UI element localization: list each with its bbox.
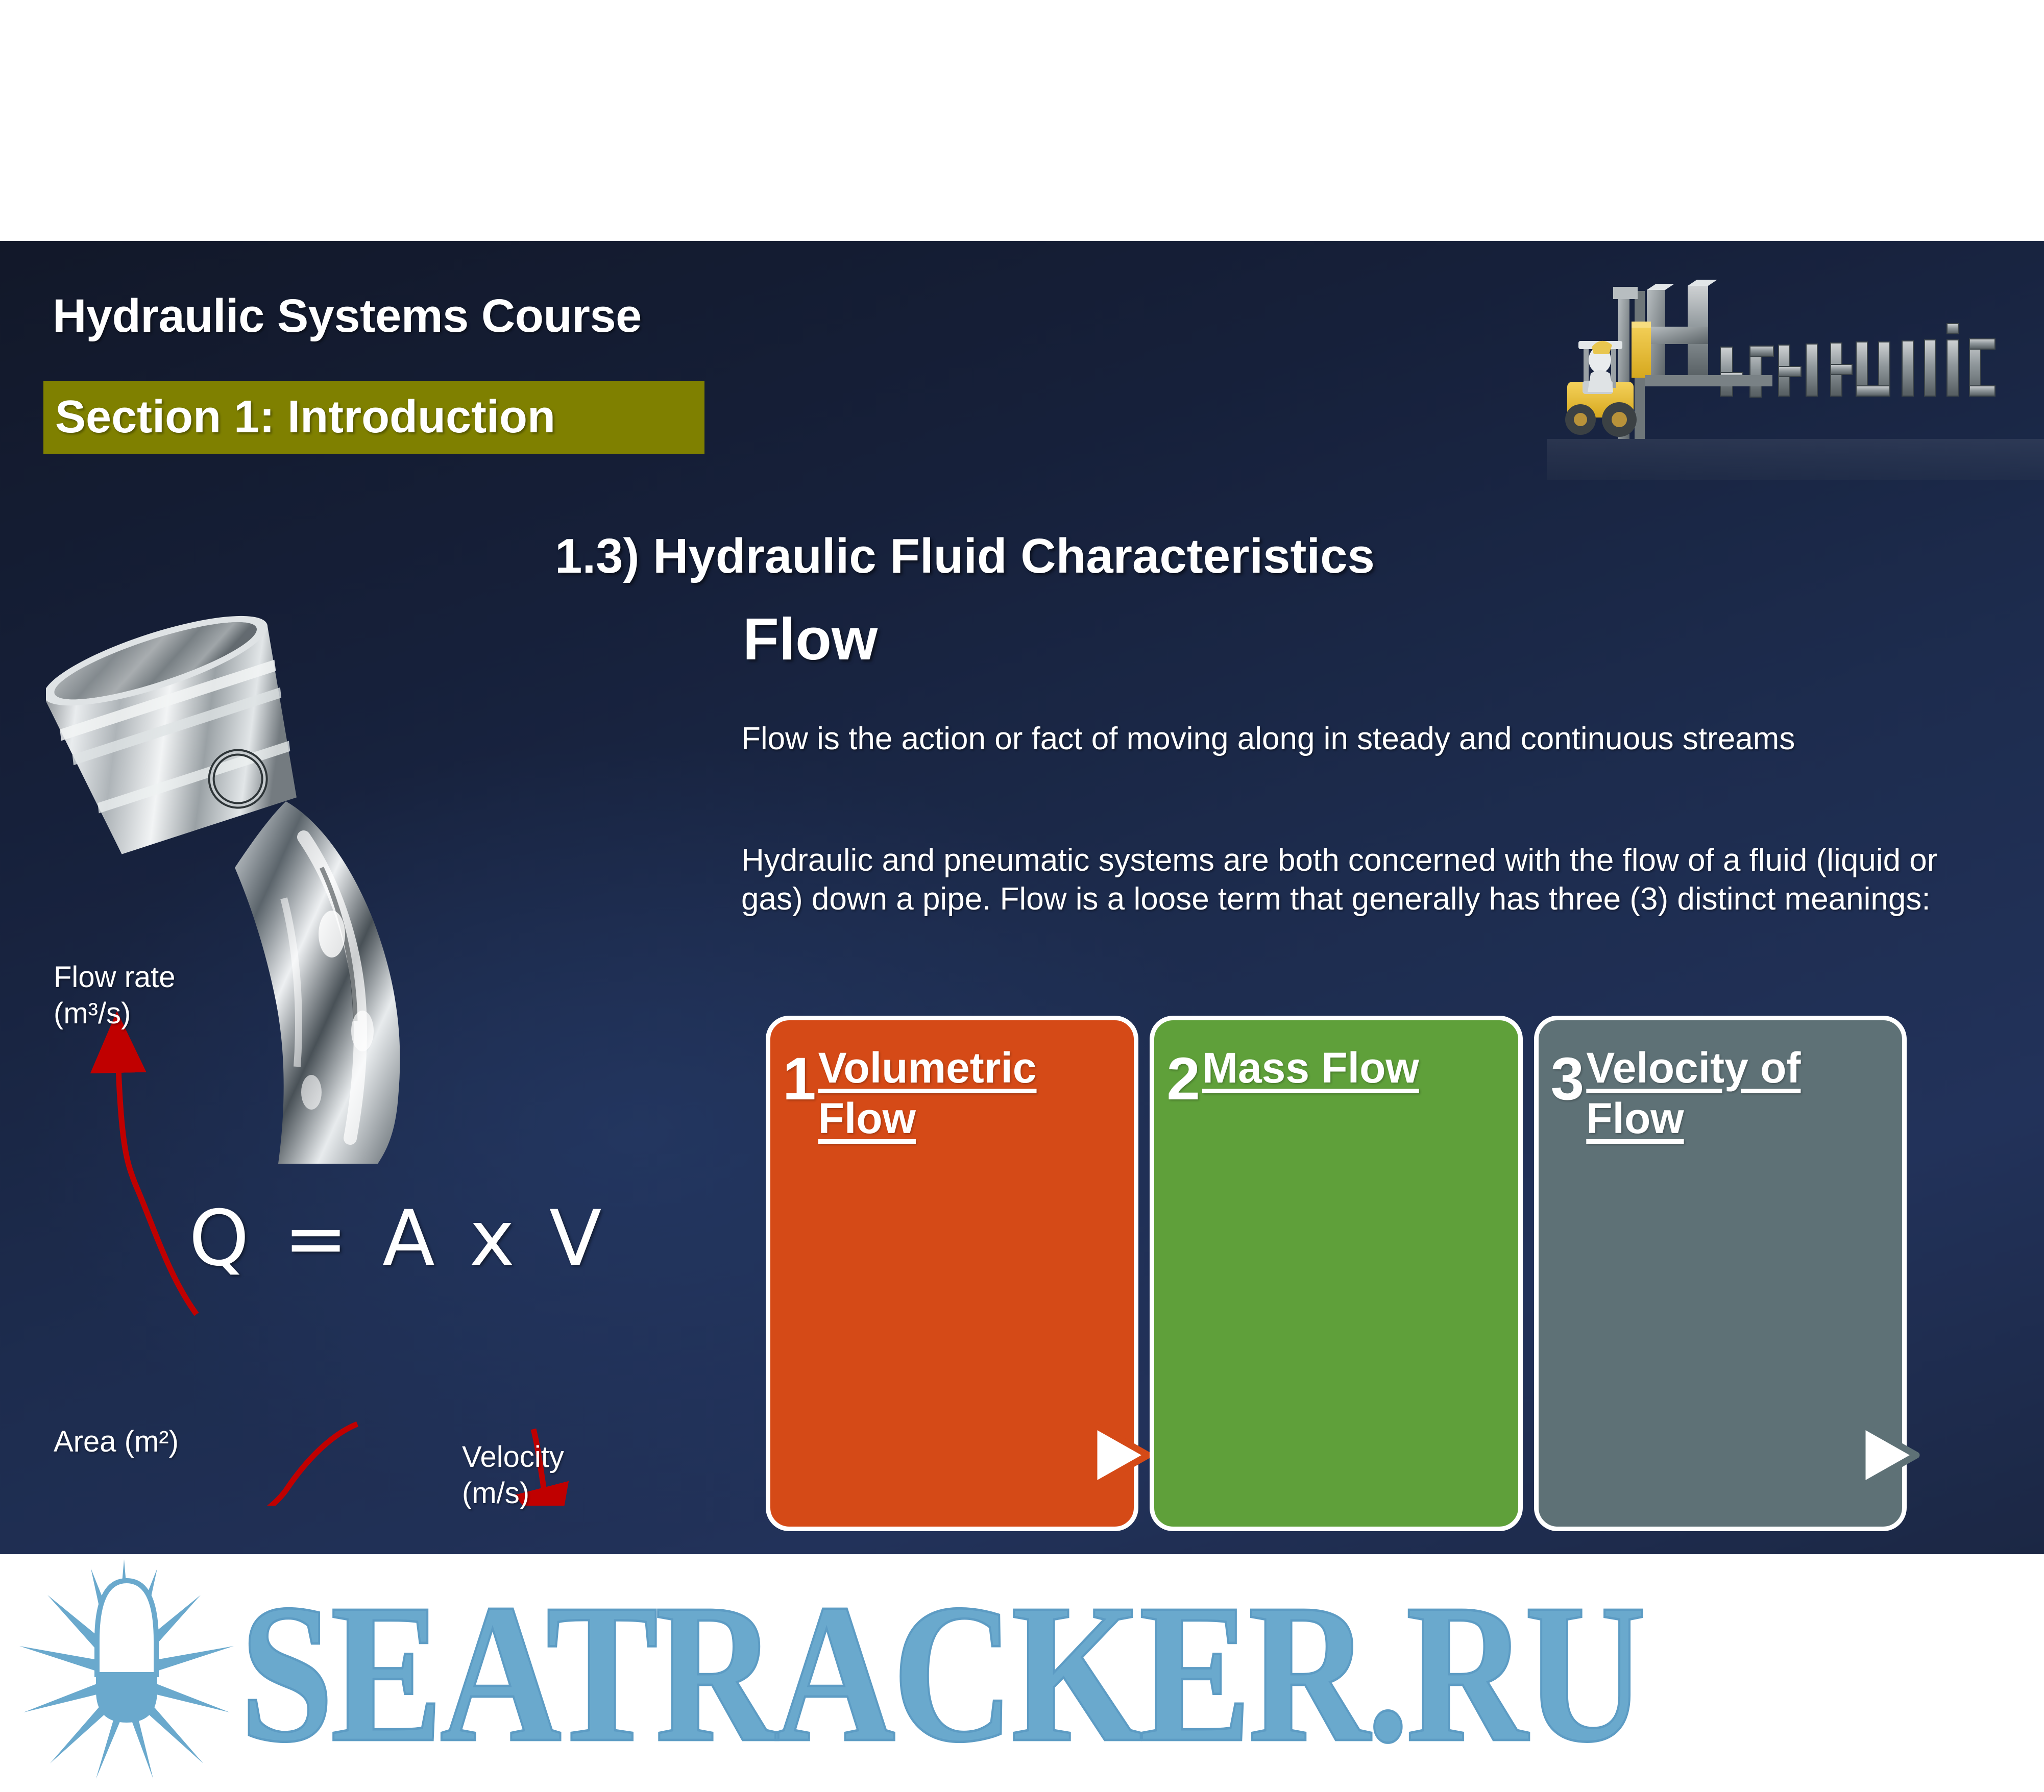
process-box-label-1: Volumetric Flow (818, 1043, 1122, 1144)
chevron-right-icon-1 (1088, 1419, 1154, 1491)
logo-forklift (1565, 287, 1772, 439)
chevron-right-icon-3 (1856, 1419, 1923, 1491)
flow-equation: Q = A x V (189, 1194, 606, 1283)
label-flow-rate-line1: Flow rate (54, 960, 176, 996)
label-velocity-line1: Velocity (462, 1439, 564, 1476)
sunburst-logo-icon (19, 1559, 234, 1779)
process-box-number-1: 1 (783, 1049, 816, 1109)
watermark-band: SEATRACKER.RU (0, 1554, 2044, 1792)
slide-canvas: Hydraulic Systems Course Section 1: Intr… (0, 0, 2044, 1792)
process-boxes-row: 1 Volumetric Flow 2 Mass Flow 3 Velocity… (766, 1016, 1907, 1531)
process-box-label-3: Velocity of Flow (1586, 1043, 1890, 1144)
page-subtitle: Flow (743, 605, 878, 673)
logo-letter-h (1647, 280, 1717, 380)
process-box-number-2: 2 (1166, 1049, 1200, 1109)
label-flow-rate-line2: (m³/s) (54, 996, 176, 1032)
process-box-velocity-of-flow[interactable]: 3 Velocity of Flow (1534, 1016, 1907, 1531)
label-velocity-line2: (m/s) (462, 1476, 564, 1512)
label-area: Area (m²) (54, 1424, 179, 1460)
forklift-hydraulics-logo (1547, 255, 2044, 485)
label-flow-rate: Flow rate (m³/s) (54, 960, 176, 1032)
course-title: Hydraulic Systems Course (53, 289, 642, 343)
process-box-number-3: 3 (1551, 1049, 1585, 1109)
section-badge-label: Section 1: Introduction (55, 391, 555, 444)
label-velocity: Velocity (m/s) (462, 1439, 564, 1512)
section-badge: Section 1: Introduction (43, 381, 704, 454)
top-white-band (0, 0, 2044, 241)
process-box-volumetric-flow[interactable]: 1 Volumetric Flow (766, 1016, 1138, 1531)
page-title: 1.3) Hydraulic Fluid Characteristics (480, 528, 1450, 584)
process-box-label-2: Mass Flow (1202, 1043, 1419, 1093)
watermark-text: SEATRACKER.RU (240, 1559, 1643, 1787)
body-paragraph-2: Hydraulic and pneumatic systems are both… (741, 841, 1961, 919)
process-box-mass-flow[interactable]: 2 Mass Flow (1150, 1016, 1522, 1531)
body-paragraph-1: Flow is the action or fact of moving alo… (741, 720, 1961, 758)
